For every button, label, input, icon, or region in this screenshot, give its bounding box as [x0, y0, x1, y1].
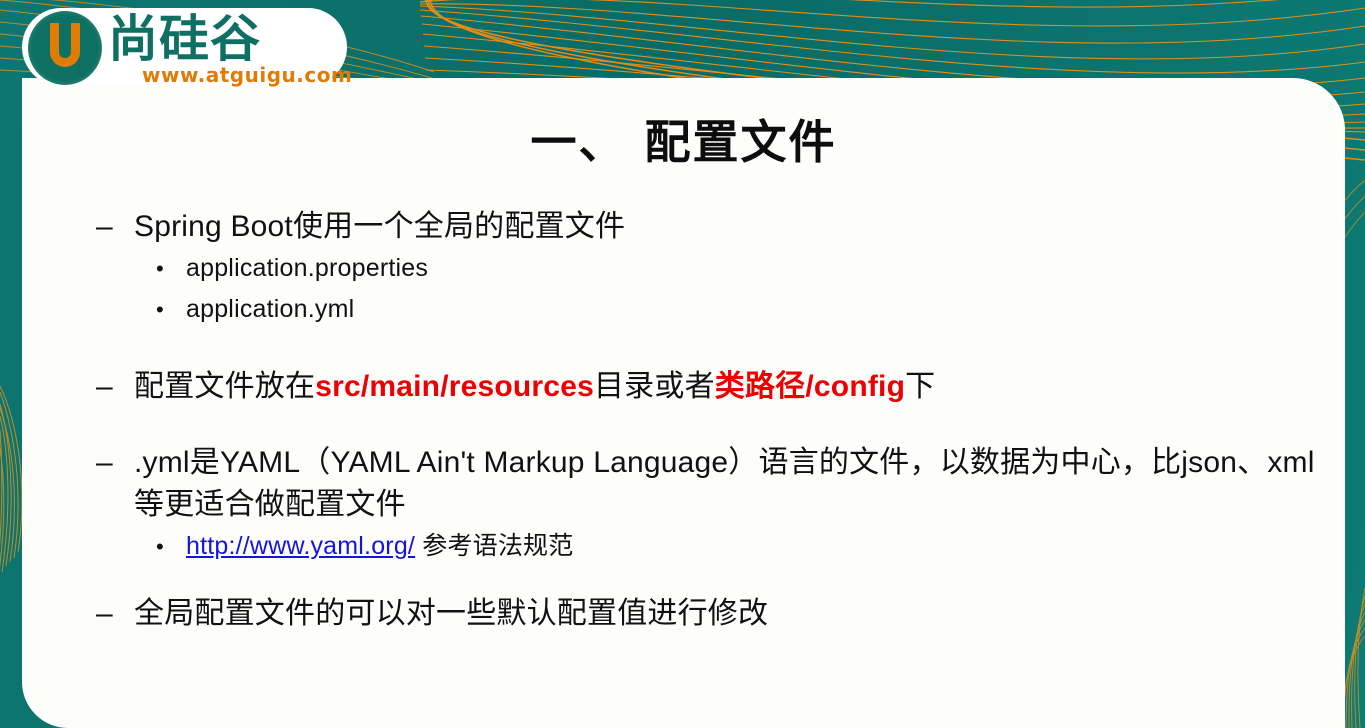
- letter-u-shape: [50, 23, 80, 67]
- bullet-text: 全局配置文件的可以对一些默认配置值进行修改: [134, 597, 768, 630]
- bullet-text: application.yml: [186, 295, 354, 323]
- bullet-level2: • application.yml: [84, 289, 1324, 330]
- bullet-text-part: 参考语法规范: [415, 532, 573, 560]
- dot-marker-icon: •: [156, 248, 164, 289]
- bullet-text-part: 下: [905, 370, 935, 403]
- bullet-level1: – 配置文件放在src/main/resources目录或者类路径/config…: [84, 366, 1324, 408]
- bullet-level2: •http://www.yaml.org/ 参考语法规范: [84, 526, 1324, 567]
- dash-marker-icon: –: [96, 442, 113, 484]
- presentation-slide: 一、 配置文件 – Spring Boot使用一个全局的配置文件 • appli…: [0, 0, 1365, 728]
- bullet-level1-wrapper: – 全局配置文件的可以对一些默认配置值进行修改: [84, 593, 1324, 635]
- spacer: [84, 567, 1324, 593]
- highlight-path-config: 类路径/config: [715, 370, 905, 403]
- spacer: [84, 408, 1324, 442]
- bullet-level1: – .yml是YAML（YAML Ain't Markup Language）语…: [84, 442, 1324, 526]
- brand-url: www.atguigu.com: [142, 63, 352, 87]
- dot-marker-icon: •: [156, 526, 164, 567]
- yaml-org-link[interactable]: http://www.yaml.org/: [186, 532, 415, 560]
- bullet-text-part: 目录或者: [594, 370, 715, 403]
- bullet-text-part: 配置文件放在: [134, 370, 315, 403]
- brand-name-cn: 尚硅谷: [108, 10, 261, 68]
- bullet-level1: – 全局配置文件的可以对一些默认配置值进行修改: [84, 593, 1324, 635]
- bullet-text: .yml是YAML（YAML Ain't Markup Language）语言的…: [134, 446, 1315, 521]
- slide-content-panel: 一、 配置文件 – Spring Boot使用一个全局的配置文件 • appli…: [22, 78, 1345, 728]
- bullet-text: application.properties: [186, 254, 428, 282]
- dot-marker-icon: •: [156, 289, 164, 330]
- highlight-path-resources: src/main/resources: [315, 370, 594, 403]
- dash-marker-icon: –: [96, 593, 113, 635]
- bullet-level2: • application.properties: [84, 248, 1324, 289]
- u-circle-logo-icon: [28, 11, 102, 85]
- brand-logo: 尚硅谷 www.atguigu.com: [22, 8, 347, 86]
- dash-marker-icon: –: [96, 206, 113, 248]
- slide-body: – Spring Boot使用一个全局的配置文件 • application.p…: [84, 206, 1324, 635]
- dash-marker-icon: –: [96, 366, 113, 408]
- page-title: 一、 配置文件: [22, 106, 1345, 172]
- bullet-level1: – Spring Boot使用一个全局的配置文件: [84, 206, 1324, 248]
- spacer: [84, 330, 1324, 366]
- bullet-text: Spring Boot使用一个全局的配置文件: [134, 210, 625, 243]
